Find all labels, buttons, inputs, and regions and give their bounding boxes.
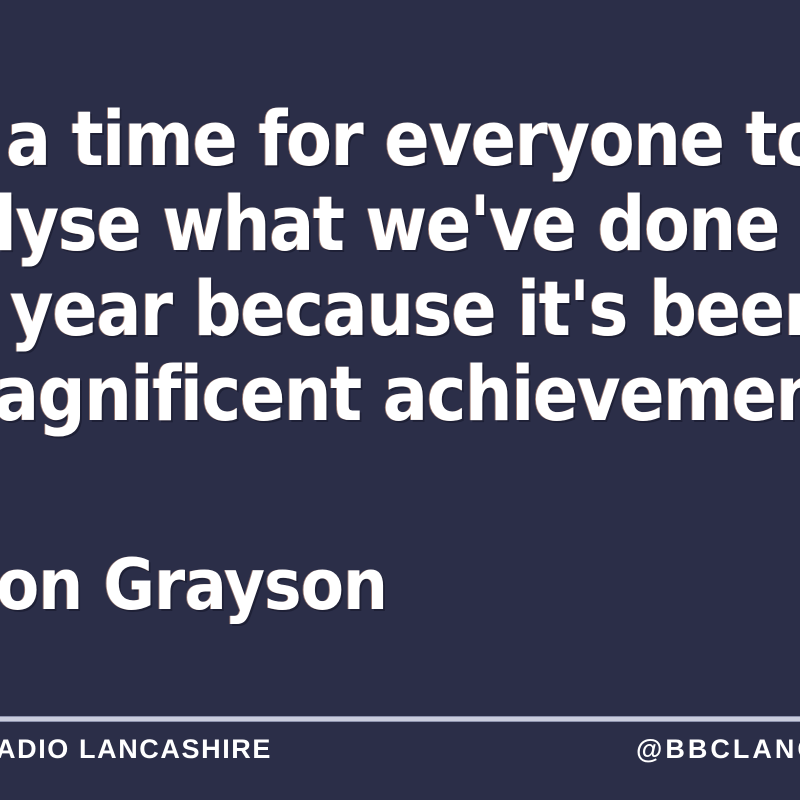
quote-line-3: year because it's been <box>10 266 705 351</box>
footer-bar: ADIO LANCASHIRE @BBCLANC <box>0 722 800 800</box>
quote-line-2: lyse what we've done <box>0 181 703 266</box>
station-name-label: ADIO LANCASHIRE <box>0 734 272 765</box>
quote-text-block: a time for everyone to lyse what we've d… <box>0 96 800 436</box>
quote-line-4: agnificent achievement. <box>0 351 703 436</box>
social-handle-label: @BBCLANC <box>636 734 800 765</box>
attribution-name: on Grayson <box>0 546 387 624</box>
quote-line-1: a time for everyone to <box>6 96 705 181</box>
quote-card: a time for everyone to lyse what we've d… <box>0 0 800 800</box>
